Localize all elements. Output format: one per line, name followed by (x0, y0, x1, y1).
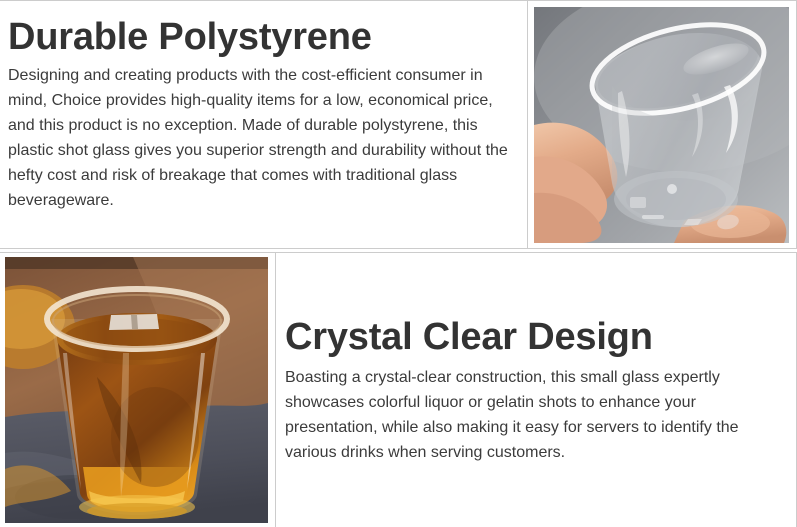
crystal-clear-design-heading: Crystal Clear Design (285, 315, 781, 359)
durable-polystyrene-heading: Durable Polystyrene (8, 15, 517, 59)
feature-section-durable-polystyrene: Durable Polystyrene Designing and creati… (0, 0, 797, 249)
product-feature-panels: Durable Polystyrene Designing and creati… (0, 0, 797, 523)
crystal-clear-design-body-text: Boasting a crystal-clear construction, t… (285, 365, 781, 465)
durable-polystyrene-text-column: Durable Polystyrene Designing and creati… (0, 1, 527, 248)
feature-section-crystal-clear-design: Crystal Clear Design Boasting a crystal-… (0, 252, 797, 527)
plastic-cup-with-amber-liquid-photo (5, 257, 268, 523)
durable-polystyrene-image-cell (527, 1, 795, 248)
crystal-clear-design-image-cell (0, 253, 276, 527)
crystal-clear-design-text-column: Crystal Clear Design Boasting a crystal-… (276, 253, 795, 527)
hand-holding-clear-plastic-shot-glass-photo (534, 7, 789, 243)
durable-polystyrene-body-text: Designing and creating products with the… (8, 63, 517, 213)
